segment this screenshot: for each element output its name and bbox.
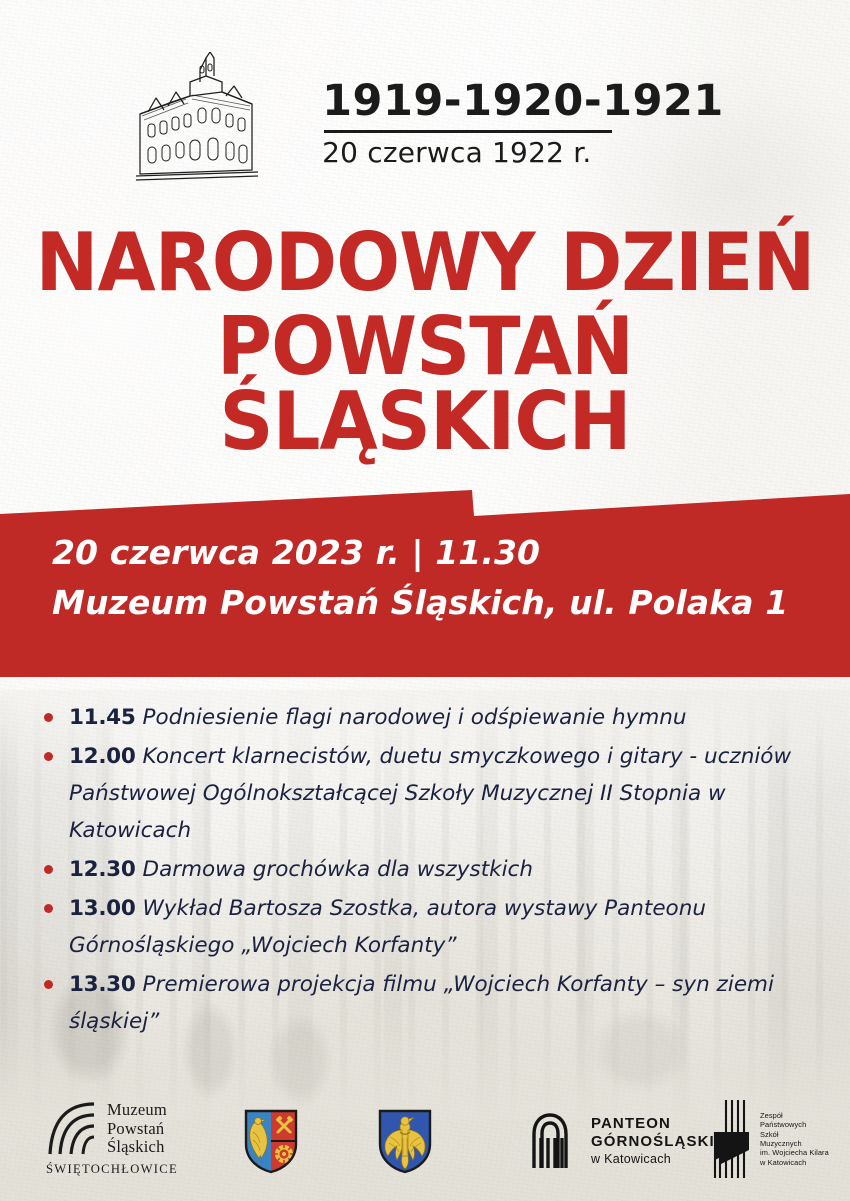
panteon-line-1: PANTEON: [591, 1115, 715, 1132]
bullet-icon: [44, 865, 53, 874]
panteon-line-3: w Katowicach: [591, 1152, 715, 1167]
poster: 1919-1920-1921 20 czerwca 1922 r. NARODO…: [0, 0, 850, 1201]
bullet-icon: [44, 713, 53, 722]
music-school-line-3: Szkół: [760, 1130, 829, 1139]
programme-item: 13.30Premierowa projekcja filmu „Wojciec…: [40, 967, 830, 1041]
event-date-time: 20 czerwca 2023 r. | 11.30: [52, 528, 820, 578]
title-line-2: POWSTAŃ ŚLĄSKICH: [26, 310, 825, 459]
programme-item-time: 11.45: [69, 705, 136, 730]
programme-item: 11.45Podniesienie flagi narodowej i odśp…: [40, 700, 830, 737]
music-school-line-2: Państwowych: [760, 1120, 829, 1129]
anniversary-years-block: 1919-1920-1921 20 czerwca 1922 r.: [322, 52, 724, 167]
logo-zespol-panstwowych-szkol-muzycznych: Zespół Państwowych Szkół Muzycznych im. …: [713, 1098, 829, 1180]
programme-item-time: 12.30: [69, 857, 136, 882]
panteon-arch-columns-icon: [517, 1110, 579, 1172]
museum-name-line-2: Powstań: [107, 1120, 167, 1138]
music-school-line-6: w Katowicach: [760, 1158, 829, 1167]
programme-list: 11.45Podniesienie flagi narodowej i odśp…: [40, 700, 830, 1043]
programme-item-time: 13.30: [69, 972, 136, 997]
divider-rule: [324, 130, 612, 133]
programme-item-text: Koncert klarnecistów, duetu smyczkowego …: [69, 744, 791, 843]
title-line-1: NARODOWY DZIEŃ: [26, 226, 825, 300]
bullet-icon: [44, 904, 53, 913]
music-school-line-4: Muzycznych: [760, 1139, 829, 1148]
museum-city: ŚWIĘTOCHŁOWICE: [46, 1162, 178, 1177]
logo-muzeum-powstan-slaskich: Muzeum Powstań Śląskich ŚWIĘTOCHŁOWICE: [46, 1100, 178, 1177]
panteon-line-2: GÓRNOŚLĄSKI: [591, 1133, 715, 1150]
museum-arcs-icon: [46, 1100, 98, 1158]
anniversary-years: 1919-1920-1921: [322, 80, 724, 123]
programme-item-text: Wykład Bartosza Szostka, autora wystawy …: [69, 896, 706, 958]
bullet-icon: [44, 980, 53, 989]
museum-name-line-3: Śląskich: [107, 1138, 167, 1156]
anniversary-date: 20 czerwca 1922 r.: [322, 139, 724, 167]
programme-item-time: 12.00: [69, 744, 136, 769]
swietochlowice-coat-of-arms-icon: [243, 1108, 299, 1174]
logo-panteon-gornoslaski: PANTEON GÓRNOŚLĄSKI w Katowicach: [517, 1110, 715, 1172]
event-details-banner: 20 czerwca 2023 r. | 11.30 Muzeum Powsta…: [0, 470, 850, 677]
programme-item-text: Premierowa projekcja filmu „Wojciech Kor…: [69, 972, 774, 1034]
bullet-icon: [44, 752, 53, 761]
silesian-voivodeship-coat-of-arms-icon: [377, 1108, 433, 1174]
programme-item: 12.30Darmowa grochówka dla wszystkich: [40, 852, 830, 889]
programme-item: 12.00Koncert klarnecistów, duetu smyczko…: [40, 739, 830, 850]
music-school-line-5: im. Wojciecha Kilara: [760, 1148, 829, 1157]
poster-header: 1919-1920-1921 20 czerwca 1922 r.: [0, 52, 850, 197]
programme-item-text: Podniesienie flagi narodowej i odśpiewan…: [143, 705, 687, 730]
footer-logos: Muzeum Powstań Śląskich ŚWIĘTOCHŁOWICE: [0, 1092, 850, 1192]
zpsm-organ-pipes-icon: [713, 1098, 753, 1180]
programme-item-time: 13.00: [69, 896, 136, 921]
poster-title: NARODOWY DZIEŃ POWSTAŃ ŚLĄSKICH: [0, 226, 850, 459]
programme-item: 13.00Wykład Bartosza Szostka, autora wys…: [40, 891, 830, 965]
historic-building-icon: [126, 52, 296, 192]
event-venue: Muzeum Powstań Śląskich, ul. Polaka 1: [52, 578, 820, 628]
music-school-line-1: Zespół: [760, 1111, 829, 1120]
museum-name-line-1: Muzeum: [107, 1101, 167, 1119]
programme-item-text: Darmowa grochówka dla wszystkich: [143, 857, 533, 882]
